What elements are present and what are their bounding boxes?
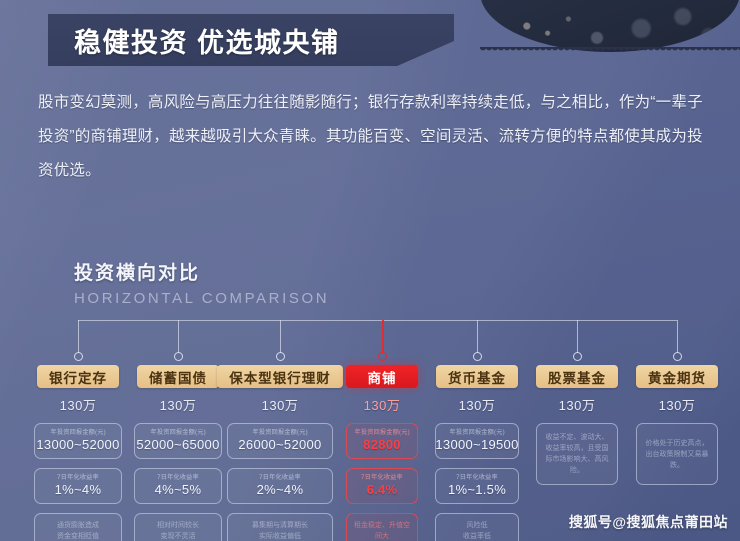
note-box: 通货膨胀造成 资金变相贬值: [34, 513, 122, 541]
metric-caption: 7日年化收益率: [57, 473, 99, 482]
column-amount: 130万: [459, 395, 496, 414]
metric-caption: 7日年化收益率: [456, 473, 498, 482]
comparison-columns: 银行定存130万年投资回报金额(元)13000~520007日年化收益率1%~4…: [0, 365, 740, 525]
metric-box: 年投资回报金额(元)13000~19500: [435, 423, 519, 459]
metric-value: 26000~52000: [238, 437, 321, 453]
column-name-pill[interactable]: 商铺: [346, 365, 418, 388]
note-box: 风险低 收益率低: [435, 513, 519, 541]
metric-caption: 年投资回报金额(元): [50, 428, 105, 437]
metric-box: 7日年化收益率4%~5%: [134, 468, 222, 504]
comparison-column[interactable]: 黄金期货130万价格处于历史高点， 出台政策限制又易暴 跌。: [630, 365, 724, 485]
metric-caption: 7日年化收益率: [157, 473, 199, 482]
metric-caption: 年投资回报金额(元): [150, 428, 205, 437]
metric-box: 7日年化收益率6.4%: [346, 468, 418, 504]
column-amount: 130万: [364, 395, 401, 414]
watermark: 搜狐号@搜狐焦点莆田站: [569, 512, 728, 532]
column-amount: 130万: [262, 395, 299, 414]
column-amount: 130万: [659, 395, 696, 414]
timeline-drop: [577, 320, 578, 353]
metric-box: 7日年化收益率2%~4%: [227, 468, 333, 504]
metric-caption: 7日年化收益率: [259, 473, 301, 482]
metric-value: 4%~5%: [155, 482, 202, 498]
column-amount: 130万: [160, 395, 197, 414]
section-title-cn: 投资横向对比: [74, 258, 329, 285]
comparison-timeline: [0, 320, 740, 366]
intro-paragraph: 股市变幻莫测，高风险与高压力往往随影随行；银行存款利率持续走低，与之相比，作为“…: [38, 86, 706, 188]
metric-value: 6.4%: [367, 482, 398, 498]
section-title-en: HORIZONTAL COMPARISON: [74, 290, 329, 307]
timeline-node: [174, 352, 183, 361]
metric-box: 7日年化收益率1%~4%: [34, 468, 122, 504]
note-text: 租金稳定、升值空间大 低风险、高抗通胀能力: [354, 520, 410, 541]
timeline-node: [74, 352, 83, 361]
column-name-pill[interactable]: 股票基金: [536, 365, 618, 388]
timeline-node: [276, 352, 285, 361]
note-box: 租金稳定、升值空间大 低风险、高抗通胀能力: [346, 513, 418, 541]
comparison-column[interactable]: 货币基金130万年投资回报金额(元)13000~195007日年化收益率1%~1…: [429, 365, 525, 541]
column-name-pill[interactable]: 银行定存: [37, 365, 119, 388]
aerial-cityscape-photo: [480, 0, 740, 52]
metric-value: 82800: [363, 437, 401, 453]
note-text: 相对时间较长 变现不灵活: [157, 520, 199, 541]
note-text: 收益不定、波动大、 收益率较高，且受国 际市场影响大、高风 险。: [546, 432, 609, 476]
metric-box: 年投资回报金额(元)26000~52000: [227, 423, 333, 459]
column-name-pill[interactable]: 货币基金: [436, 365, 518, 388]
metric-value: 13000~52000: [36, 437, 119, 453]
timeline-drop: [677, 320, 678, 353]
timeline-node: [473, 352, 482, 361]
timeline-node: [378, 352, 387, 361]
column-name-pill[interactable]: 储蓄国债: [137, 365, 219, 388]
column-amount: 130万: [559, 395, 596, 414]
timeline-rail: [78, 320, 677, 321]
metric-caption: 年投资回报金额(元): [449, 428, 504, 437]
metric-box: 年投资回报金额(元)82800: [346, 423, 418, 459]
comparison-column[interactable]: 储蓄国债130万年投资回报金额(元)52000~650007日年化收益率4%~5…: [128, 365, 228, 541]
comparison-column[interactable]: 股票基金130万收益不定、波动大、 收益率较高，且受国 际市场影响大、高风 险。: [530, 365, 624, 485]
metric-box: 年投资回报金额(元)13000~52000: [34, 423, 122, 459]
metric-box: 7日年化收益率1%~1.5%: [435, 468, 519, 504]
timeline-drop: [78, 320, 79, 353]
metric-value: 13000~19500: [435, 437, 518, 453]
note-box: 募集期与清算期长 实际收益偏低: [227, 513, 333, 541]
metric-caption: 年投资回报金额(元): [252, 428, 307, 437]
timeline-drop: [477, 320, 478, 353]
page-root: 稳健投资 优选城央铺 股市变幻莫测，高风险与高压力往往随影随行；银行存款利率持续…: [0, 0, 740, 541]
note-box: 价格处于历史高点， 出台政策限制又易暴 跌。: [636, 423, 718, 485]
column-name-pill[interactable]: 黄金期货: [636, 365, 718, 388]
note-box: 收益不定、波动大、 收益率较高，且受国 际市场影响大、高风 险。: [536, 423, 618, 485]
column-amount: 130万: [60, 395, 97, 414]
section-heading: 投资横向对比 HORIZONTAL COMPARISON: [74, 258, 329, 307]
note-text: 募集期与清算期长 实际收益偏低: [252, 520, 308, 541]
timeline-node: [673, 352, 682, 361]
timeline-drop: [382, 320, 384, 353]
timeline-drop: [178, 320, 179, 353]
comparison-column[interactable]: 银行定存130万年投资回报金额(元)13000~520007日年化收益率1%~4…: [28, 365, 128, 541]
metric-value: 1%~4%: [55, 482, 102, 498]
timeline-node: [573, 352, 582, 361]
metric-value: 2%~4%: [257, 482, 304, 498]
column-name-pill[interactable]: 保本型银行理财: [217, 365, 343, 388]
note-box: 相对时间较长 变现不灵活: [134, 513, 222, 541]
metric-box: 年投资回报金额(元)52000~65000: [134, 423, 222, 459]
note-text: 价格处于历史高点， 出台政策限制又易暴 跌。: [646, 438, 709, 471]
metric-caption: 年投资回报金额(元): [354, 428, 409, 437]
metric-caption: 7日年化收益率: [361, 473, 403, 482]
note-text: 风险低 收益率低: [463, 520, 491, 541]
comparison-column[interactable]: 保本型银行理财130万年投资回报金额(元)26000~520007日年化收益率2…: [221, 365, 339, 541]
page-title: 稳健投资 优选城央铺: [48, 21, 340, 60]
metric-value: 52000~65000: [136, 437, 219, 453]
note-text: 通货膨胀造成 资金变相贬值: [57, 520, 99, 541]
timeline-drop: [280, 320, 281, 353]
header-banner: 稳健投资 优选城央铺: [48, 14, 454, 66]
metric-value: 1%~1.5%: [448, 482, 506, 498]
comparison-column[interactable]: 商铺130万年投资回报金额(元)828007日年化收益率6.4%租金稳定、升值空…: [340, 365, 424, 541]
